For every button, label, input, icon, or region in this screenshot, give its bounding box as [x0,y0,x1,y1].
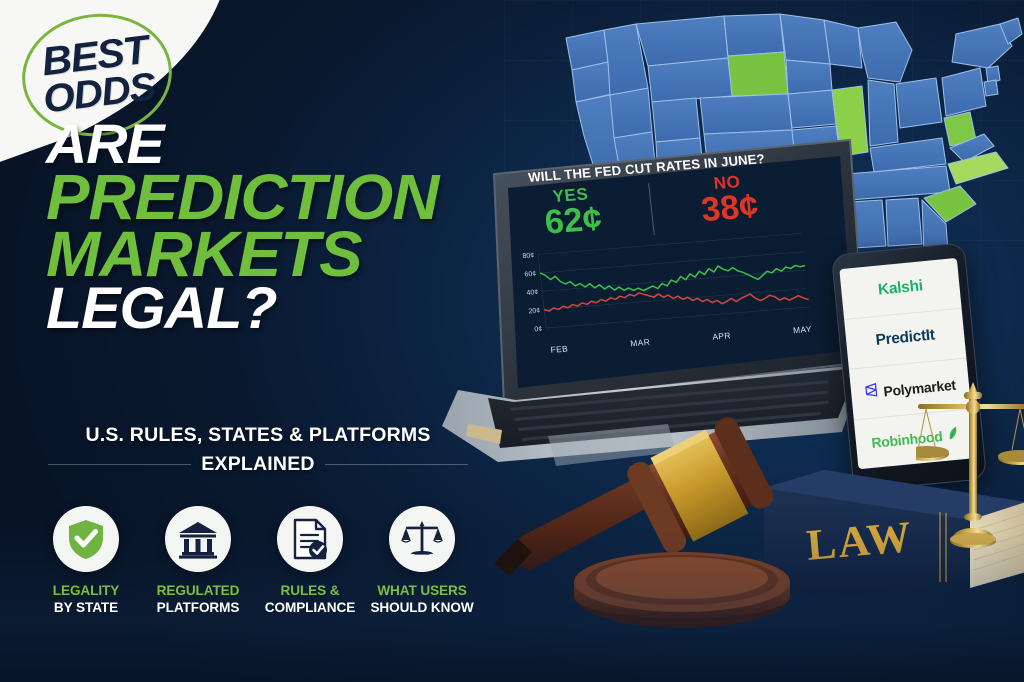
subtitle-line-2-row: EXPLAINED [48,453,468,476]
subtitle-line-1: U.S. RULES, STATES & PLATFORMS [48,424,468,447]
shield-check-icon [66,518,106,560]
feature-icon-wrap [277,506,343,572]
feature-label-line-2: BY STATE [54,600,118,615]
infographic-canvas: WILL THE FED CUT RATES IN JUNE? YES 62¢ … [0,0,1024,682]
feature-item-what-users-should-know[interactable]: WHAT USERS SHOULD KNOW [366,506,478,615]
polymarket-logo-icon [864,382,881,403]
feature-label-line-2: SHOULD KNOW [370,600,473,615]
feature-label-line-1: LEGALITY [53,583,119,598]
subtitle-rule-left [48,464,191,465]
feature-item-legality[interactable]: LEGALITY BY STATE [30,506,142,615]
headline-line-2: PREDICTION [46,170,536,225]
platform-name: Kalshi [877,277,923,299]
subtitle-rule-right [325,464,468,465]
platform-name: PredictIt [875,327,936,351]
feature-list: LEGALITY BY STATE REGULATED [30,506,500,615]
page-title: ARE PREDICTION MARKETS LEGAL? [46,120,526,334]
feature-item-rules-compliance[interactable]: RULES & COMPLIANCE [254,506,366,615]
document-check-icon [291,518,329,560]
feature-label-line-1: RULES & [281,583,340,598]
subtitle-line-2: EXPLAINED [201,453,314,476]
headline-line-4: LEGAL? [46,284,536,334]
feature-label-line-2: COMPLIANCE [265,600,355,615]
feature-label-line-2: PLATFORMS [157,600,240,615]
feature-icon-wrap [165,506,231,572]
scales-justice-icon [401,519,443,559]
feature-label-line-1: REGULATED [157,583,240,598]
feature-icon-wrap [389,506,455,572]
bank-building-icon [177,519,219,559]
scales-of-justice-prop [916,374,1024,556]
feature-icon-wrap [53,506,119,572]
feature-item-regulated-platforms[interactable]: REGULATED PLATFORMS [142,506,254,615]
feature-label-line-1: WHAT USERS [377,583,466,598]
gavel-prop [470,400,850,630]
headline-line-3: MARKETS [46,227,536,282]
subtitle: U.S. RULES, STATES & PLATFORMS EXPLAINED [48,424,468,476]
logo-line-2: ODDS [41,69,157,118]
